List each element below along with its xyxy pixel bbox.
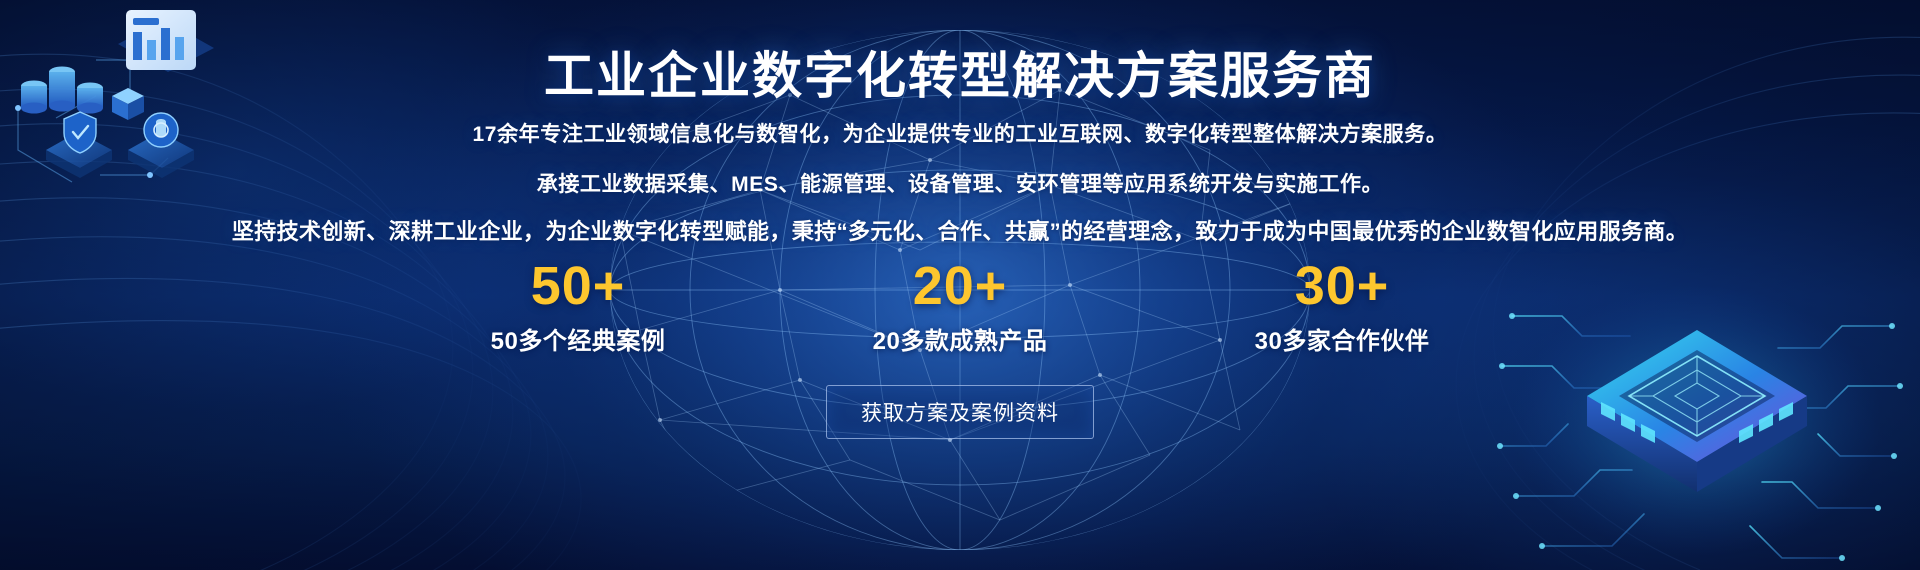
banner-content: 工业企业数字化转型解决方案服务商 17余年专注工业领域信息化与数智化，为企业提供… [0, 0, 1920, 570]
get-materials-button[interactable]: 获取方案及案例资料 [826, 385, 1094, 439]
stat-number: 20+ [850, 258, 1070, 315]
stats-row: 50+ 50多个经典案例 20+ 20多款成熟产品 30+ 30多家合作伙伴 [468, 258, 1452, 356]
stat-item-products: 20+ 20多款成熟产品 [850, 258, 1070, 356]
stat-label: 50多个经典案例 [468, 321, 688, 356]
stat-item-cases: 50+ 50多个经典案例 [468, 258, 688, 356]
subtitle-line-2: 承接工业数据采集、MES、能源管理、设备管理、安环管理等应用系统开发与实施工作。 [0, 168, 1920, 198]
stat-label: 20多款成熟产品 [850, 321, 1070, 356]
stat-item-partners: 30+ 30多家合作伙伴 [1232, 258, 1452, 356]
hero-banner: 工业企业数字化转型解决方案服务商 17余年专注工业领域信息化与数智化，为企业提供… [0, 0, 1920, 570]
page-title: 工业企业数字化转型解决方案服务商 [0, 36, 1920, 108]
subtitle-line-3: 坚持技术创新、深耕工业企业，为企业数字化转型赋能，秉持“多元化、合作、共赢”的经… [0, 214, 1920, 246]
stat-number: 30+ [1232, 258, 1452, 315]
stat-number: 50+ [468, 258, 688, 315]
subtitle-line-1: 17余年专注工业领域信息化与数智化，为企业提供专业的工业互联网、数字化转型整体解… [0, 118, 1920, 148]
stat-label: 30多家合作伙伴 [1232, 321, 1452, 356]
